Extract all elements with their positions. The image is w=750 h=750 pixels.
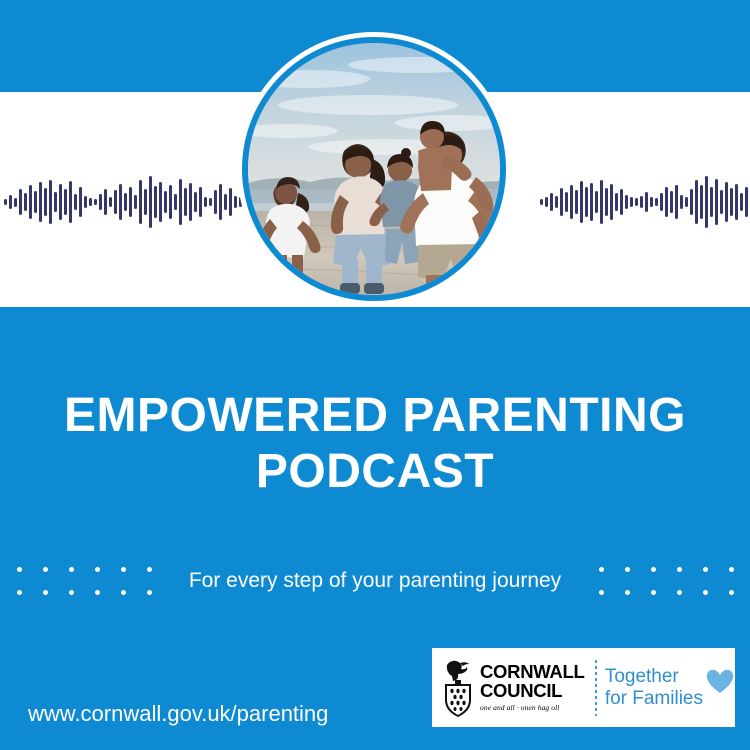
cornwall-council-logo: CORNWALL COUNCIL one and all · onen hag … (432, 659, 593, 717)
waveform-bar (39, 182, 42, 222)
waveform-bar (630, 197, 633, 207)
waveform-bar (44, 188, 47, 216)
waveform-bar (84, 196, 87, 208)
waveform-bar (735, 184, 738, 220)
waveform-bar (645, 192, 648, 212)
waveform-bar (104, 189, 107, 215)
waveform-bar (690, 189, 693, 215)
waveform-bar (640, 196, 643, 208)
decorative-dot (651, 590, 656, 595)
waveform-bar (139, 180, 142, 224)
waveform-bar (79, 187, 82, 217)
headline-line-2: PODCAST (0, 444, 750, 500)
waveform-bar (730, 188, 733, 216)
waveform-bar (660, 193, 663, 211)
waveform-bar (64, 189, 67, 215)
waveform-bar (670, 191, 673, 213)
waveform-bar (710, 187, 713, 217)
waveform-bar (189, 183, 192, 221)
waveform-bar (109, 197, 112, 207)
cornwall-council-wordmark: CORNWALL COUNCIL one and all · onen hag … (480, 663, 584, 711)
together-for-families-wordmark: Together for Families (605, 666, 703, 709)
waveform-bar (219, 184, 222, 220)
family-beach-photo (248, 43, 500, 295)
waveform-bar (9, 195, 12, 209)
waveform-bar (134, 195, 137, 209)
decorative-dot (599, 590, 604, 595)
waveform-bar (635, 198, 638, 206)
waveform-bar (555, 196, 558, 208)
decorative-dot (703, 590, 708, 595)
waveform-bar (24, 193, 27, 211)
waveform-bar (685, 197, 688, 207)
waveform-bar (59, 184, 62, 220)
waveform-bar (174, 194, 177, 210)
decorative-dot (147, 590, 152, 595)
waveform-bar (224, 194, 227, 210)
waveform-bar (540, 199, 543, 205)
waveform-bar (740, 193, 743, 211)
waveform-bar (74, 194, 77, 210)
tagline-text: For every step of your parenting journey (162, 569, 588, 593)
decorative-dot (43, 567, 48, 572)
waveform-bar (89, 198, 92, 206)
decorative-dot (17, 590, 22, 595)
waveform-bar (29, 185, 32, 219)
waveform-bar (610, 184, 613, 220)
waveform-bar (560, 188, 563, 216)
logo-divider (595, 660, 597, 716)
together-for-families-logo: Together for Families (605, 666, 735, 709)
tagline-row: For every step of your parenting journey (0, 558, 750, 604)
waveform-bar (745, 187, 748, 217)
waveform-bar (34, 191, 37, 213)
waveform-bar (545, 197, 548, 207)
waveform-bar (159, 182, 162, 222)
waveform-bar (49, 180, 52, 224)
decorative-dot (599, 567, 604, 572)
headline-line-1: EMPOWERED PARENTING (0, 388, 750, 444)
waveform-bar (700, 185, 703, 219)
heart-icon (705, 667, 735, 695)
waveform-bar (204, 197, 207, 207)
decorative-dot (17, 567, 22, 572)
waveform-bar (69, 181, 72, 223)
waveform-bar (565, 192, 568, 212)
website-url[interactable]: www.cornwall.gov.uk/parenting (28, 701, 328, 727)
waveform-bar (114, 190, 117, 214)
decorative-dot (95, 567, 100, 572)
waveform-bar (184, 188, 187, 216)
waveform-bar (119, 184, 122, 220)
waveform-bar (715, 179, 718, 225)
decorative-dot (147, 567, 152, 572)
waveform-bar (665, 187, 668, 217)
decorative-dot (677, 590, 682, 595)
waveform-bar (14, 198, 17, 207)
decorative-dot (121, 567, 126, 572)
waveform-bar (580, 181, 583, 223)
circular-photo-frame (237, 32, 511, 306)
decorative-dot (651, 567, 656, 572)
waveform-bar (680, 195, 683, 209)
page-title: EMPOWERED PARENTING PODCAST (0, 388, 750, 499)
cornwall-crest-icon (441, 659, 475, 717)
waveform-bar (720, 190, 723, 214)
waveform-bar (169, 185, 172, 219)
waveform-bar (550, 193, 553, 211)
council-line: COUNCIL (480, 682, 584, 701)
decorative-dot (677, 567, 682, 572)
waveform-bar (655, 198, 658, 206)
podcast-poster: EMPOWERED PARENTING PODCAST For every st… (0, 0, 750, 750)
waveform-bar (4, 199, 7, 205)
waveform-bar (199, 187, 202, 217)
decorative-dot (625, 590, 630, 595)
waveform-bar (570, 185, 573, 219)
decorative-dot (43, 590, 48, 595)
waveform-bar (144, 189, 147, 215)
decorative-dot (121, 590, 126, 595)
waveform-bar (585, 187, 588, 217)
waveform-bar (154, 186, 157, 218)
waveform-bar (695, 180, 698, 224)
waveform-left (4, 166, 240, 238)
waveform-bar (620, 189, 623, 215)
waveform-bar (575, 190, 578, 214)
waveform-bar (129, 187, 132, 217)
waveform-bar (179, 179, 182, 225)
waveform-bar (615, 193, 618, 211)
waveform-bar (209, 198, 212, 206)
waveform-bar (54, 192, 57, 212)
waveform-bar (600, 180, 603, 224)
logo-lockup: CORNWALL COUNCIL one and all · onen hag … (432, 648, 735, 727)
decorative-dot (729, 567, 734, 572)
waveform-bar (164, 191, 167, 213)
waveform-bar (99, 194, 102, 210)
waveform-bar (214, 190, 217, 214)
waveform-bar (675, 185, 678, 219)
waveform-bar (650, 197, 653, 207)
waveform-bar (149, 176, 152, 228)
together-line: Together (605, 666, 703, 687)
waveform-bar (605, 188, 608, 216)
waveform-bar (705, 176, 708, 228)
waveform-right (540, 166, 750, 238)
waveform-bar (229, 188, 232, 216)
waveform-bar (725, 182, 728, 222)
waveform-bar (625, 195, 628, 209)
decorative-dot (729, 590, 734, 595)
waveform-bar (124, 193, 127, 211)
waveform-bar (595, 191, 598, 213)
decorative-dot (625, 567, 630, 572)
council-motto: one and all · onen hag oll (480, 704, 584, 712)
decorative-dot (95, 590, 100, 595)
for-families-line: for Families (605, 688, 703, 709)
waveform-bar (94, 199, 97, 205)
dot-grid-left (6, 558, 162, 604)
dot-grid-right (588, 558, 744, 604)
waveform-bar (19, 189, 22, 215)
waveform-bar (194, 192, 197, 212)
decorative-dot (703, 567, 708, 572)
waveform-bar (590, 183, 593, 221)
decorative-dot (69, 590, 74, 595)
decorative-dot (69, 567, 74, 572)
